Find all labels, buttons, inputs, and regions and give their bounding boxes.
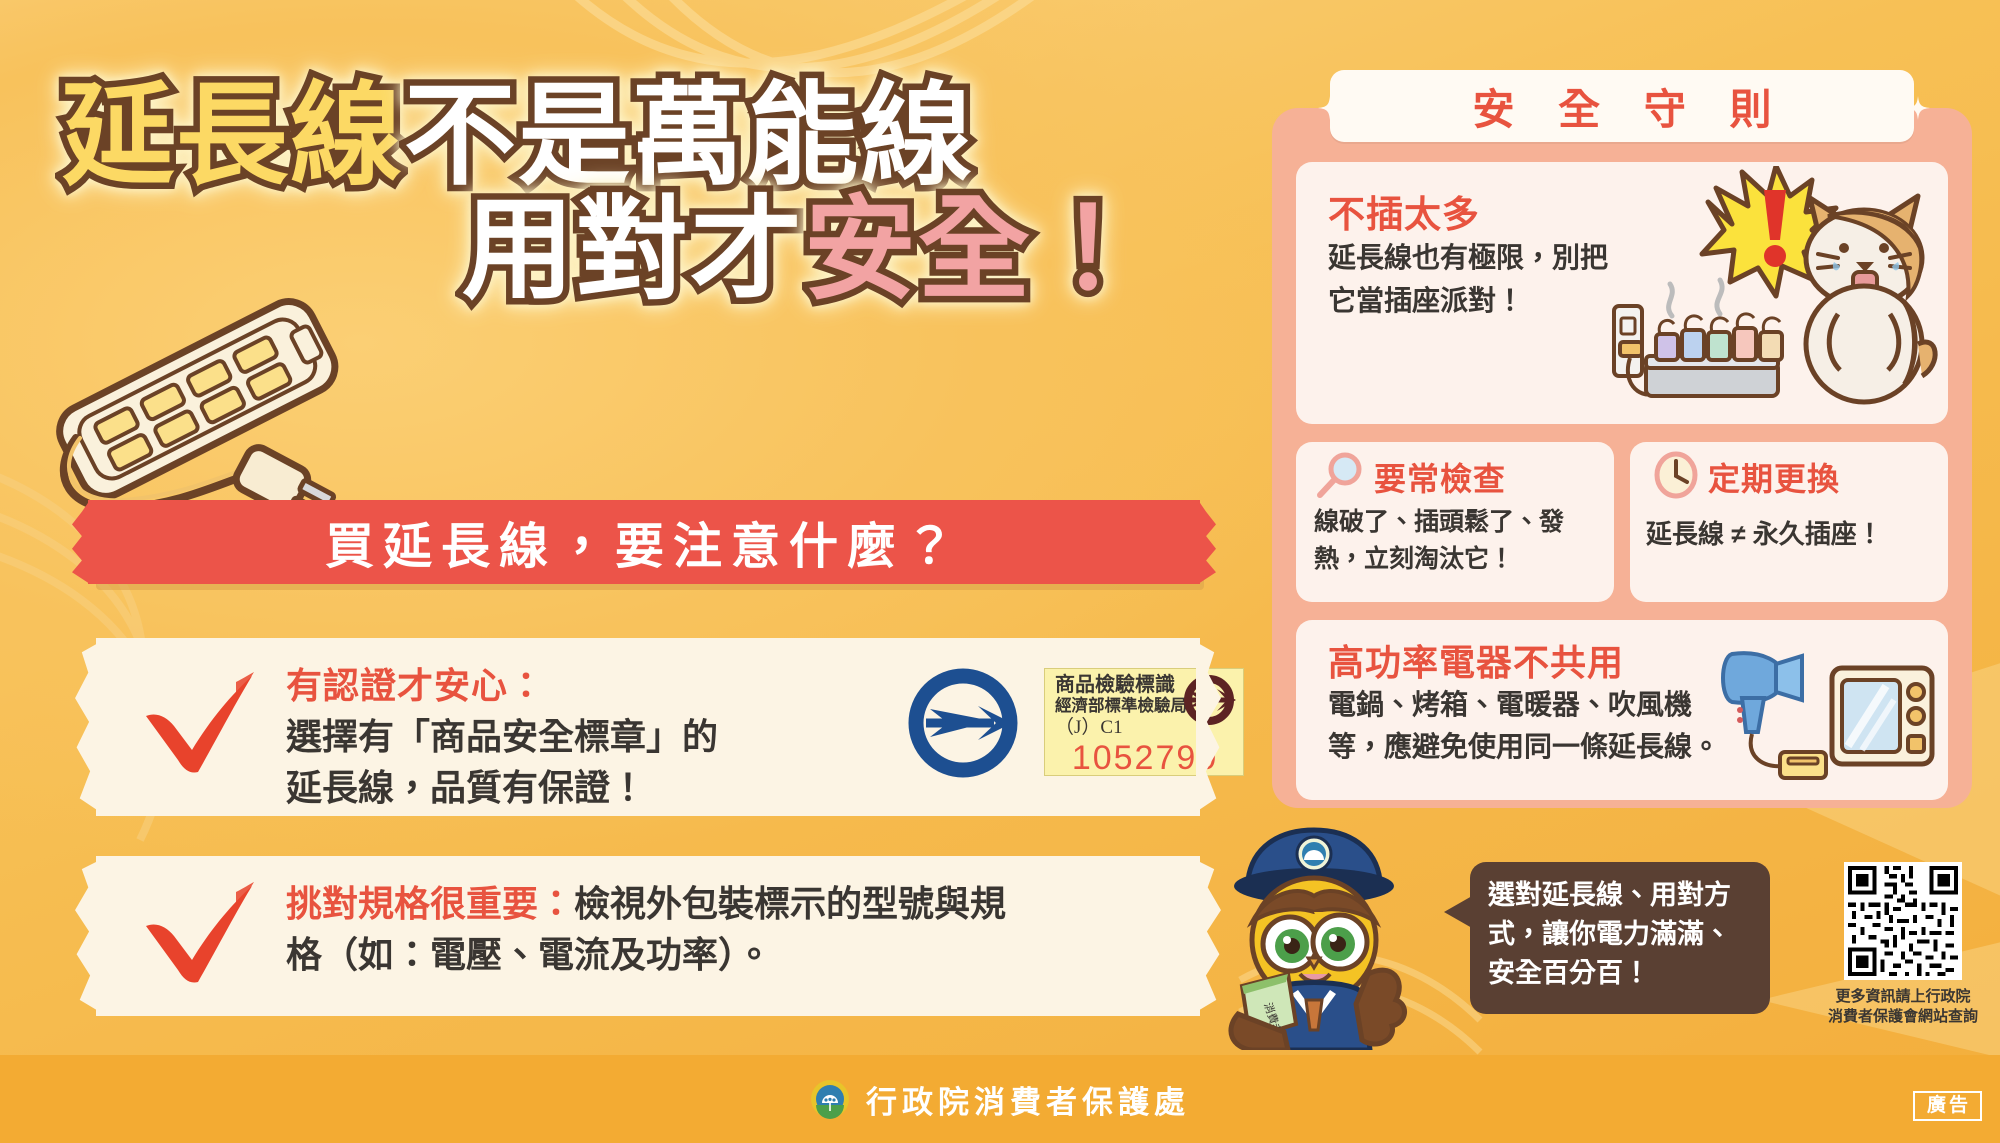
safety-card-1-heading: 不插太多: [1328, 184, 1480, 238]
safety-card-replace-regularly: 定期更換 延長線 ≠ 永久插座！: [1630, 442, 1948, 602]
poster-root: 延長線 不是萬能線 用對才 安全！: [0, 0, 2000, 1143]
footer-bar: 行政院消費者保護處: [0, 1055, 2000, 1143]
inspection-label-line1: 商品檢驗標識: [1055, 674, 1235, 696]
magnifier-icon: [1314, 450, 1370, 500]
safety-card-2-heading: 要常檢查: [1374, 454, 1506, 500]
shocked-cat-with-overloaded-power-strip-illustration: [1612, 166, 1942, 418]
tip-certification-line2: 延長線，品質有保證！: [286, 762, 718, 813]
executive-yuan-cpc-logo-icon: [810, 1079, 850, 1119]
tip-specification-title: 挑對規格很重要：: [286, 883, 574, 924]
headline-part-white-2: 用對才: [462, 186, 804, 314]
bsmi-commodity-inspection-mark-icon: [908, 668, 1018, 778]
power-strip-illustration: [18, 262, 448, 522]
inspection-label: 商品檢驗標識 經濟部標準檢驗局 （J）C1 1052790: [1044, 668, 1244, 776]
tip-certification-text: 有認證才安心： 選擇有「商品安全標章」的 延長線，品質有保證！: [286, 660, 718, 813]
safety-rules-title: 安 全 守 則: [1330, 70, 1914, 142]
inspection-label-line2: 經濟部標準檢驗局: [1055, 696, 1235, 717]
safety-card-no-high-power-sharing: 高功率電器不共用 電鍋、烤箱、電暖器、吹風機等，應避免使用同一條延長線。: [1296, 620, 1948, 800]
tip-certification-line1: 選擇有「商品安全標章」的: [286, 711, 718, 762]
left-column: 延長線 不是萬能線 用對才 安全！: [0, 0, 1255, 1055]
qr-caption-line1: 更多資訊請上行政院: [1828, 987, 1978, 1007]
red-check-icon: [140, 668, 258, 780]
tip-specification-text: 挑對規格很重要：檢視外包裝標示的型號與規 格（如：電壓、電流及功率）。: [286, 878, 1006, 980]
safety-card-4-heading: 高功率電器不共用: [1328, 634, 1624, 686]
qr-code[interactable]: [1844, 862, 1962, 980]
headline-part-white: 不是萬能線: [404, 72, 974, 200]
clock-icon: [1648, 450, 1704, 500]
qr-caption: 更多資訊請上行政院 消費者保護會網站查詢: [1828, 987, 1978, 1028]
question-banner: 買延長線，要注意什麼？: [88, 500, 1200, 584]
consumer-protection-owl-officer-mascot: 消費者保護法: [1180, 818, 1450, 1050]
tip-specification-line1: 檢視外包裝標示的型號與規: [574, 883, 1006, 924]
inspection-label-number: 1052790: [1055, 741, 1235, 775]
safety-card-do-not-overload: 不插太多 延長線也有極限，別把它當插座派對！: [1296, 162, 1948, 424]
safety-rules-title-text: 安 全 守 則: [1456, 76, 1787, 137]
hair-dryer-and-microwave-illustration: [1718, 648, 1938, 788]
safety-card-check-often: 要常檢查 線破了、插頭鬆了、發熱，立刻淘汰它！: [1296, 442, 1614, 602]
tip-card-certification: 有認證才安心： 選擇有「商品安全標章」的 延長線，品質有保證！ 商品檢驗標識 經: [96, 638, 1200, 816]
mascot-speech-bubble: 選對延長線、用對方式，讓你電力滿滿、安全百分百！: [1470, 862, 1770, 1014]
headline-part-pink: 安全！: [804, 186, 1146, 314]
safety-card-3-heading: 定期更換: [1708, 454, 1840, 500]
headline-part-yellow: 延長線: [62, 72, 404, 200]
tip-card-specification: 挑對規格很重要：檢視外包裝標示的型號與規 格（如：電壓、電流及功率）。: [96, 856, 1200, 1016]
safety-card-3-body: 延長線 ≠ 永久插座！: [1646, 516, 1942, 552]
safety-card-1-body: 延長線也有極限，別把它當插座派對！: [1328, 237, 1628, 322]
safety-card-4-body: 電鍋、烤箱、電暖器、吹風機等，應避免使用同一條延長線。: [1328, 684, 1728, 768]
tip-specification-line2: 格（如：電壓、電流及功率）。: [286, 929, 1006, 980]
bsmi-small-mark-icon: [1181, 675, 1237, 725]
red-check-icon: [140, 878, 258, 990]
footer-branding: 行政院消費者保護處: [810, 1077, 1190, 1122]
ad-badge: 廣告: [1913, 1091, 1982, 1121]
tip-certification-title: 有認證才安心：: [286, 660, 718, 711]
qr-caption-line2: 消費者保護會網站查詢: [1828, 1007, 1978, 1027]
qr-section: 更多資訊請上行政院 消費者保護會網站查詢: [1828, 862, 1978, 1028]
footer-org-name: 行政院消費者保護處: [866, 1077, 1190, 1122]
mascot-speech-text: 選對延長線、用對方式，讓你電力滿滿、安全百分百！: [1488, 876, 1754, 993]
question-banner-text: 買延長線，要注意什麼？: [325, 507, 963, 578]
safety-card-2-body: 線破了、插頭鬆了、發熱，立刻淘汰它！: [1314, 504, 1602, 577]
